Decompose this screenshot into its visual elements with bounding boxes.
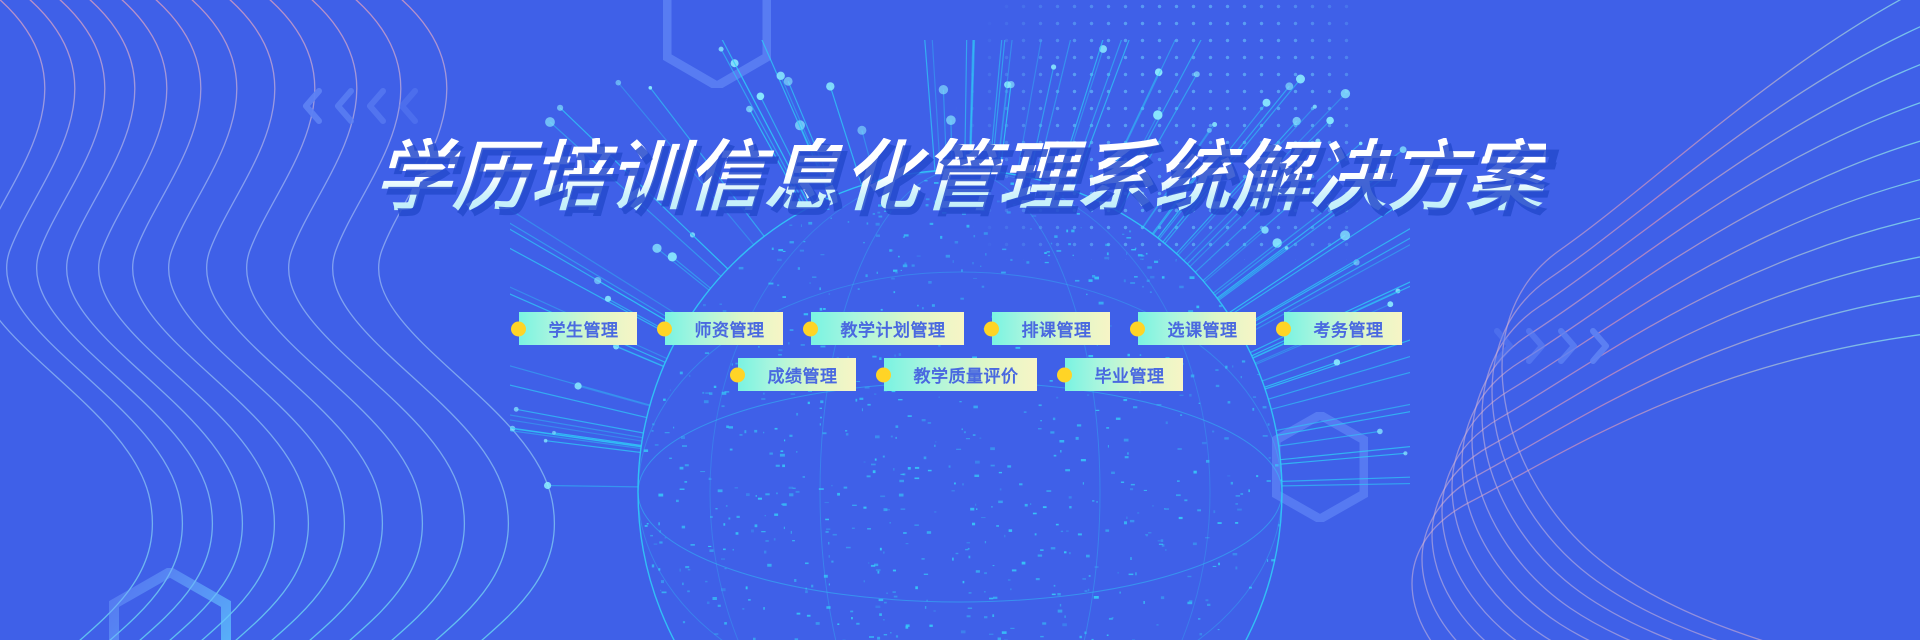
bullet-dot-icon [803, 321, 818, 336]
tag-label: 毕业管理 [1095, 362, 1165, 387]
chevron-group-left [300, 86, 422, 126]
bullet-dot-icon [984, 321, 999, 336]
tag-label: 成绩管理 [768, 362, 838, 387]
hero-banner: 学历培训信息化管理系统解决方案 学生管理 师资管理 教学计划管理 排课管理 选课… [0, 0, 1920, 640]
tag-label: 选课管理 [1168, 316, 1238, 341]
tag-list: 学生管理 师资管理 教学计划管理 排课管理 选课管理 考务管理 成绩管理 教学质… [0, 312, 1920, 391]
chevron-left-icon [300, 86, 326, 126]
bullet-dot-icon [1130, 321, 1145, 336]
tag-item[interactable]: 教学质量评价 [884, 358, 1037, 391]
bullet-dot-icon [730, 367, 745, 382]
tag-label: 排课管理 [1022, 316, 1092, 341]
tag-item[interactable]: 学生管理 [519, 312, 637, 345]
tag-item[interactable]: 考务管理 [1284, 312, 1402, 345]
bullet-dot-icon [1057, 367, 1072, 382]
tag-item[interactable]: 选课管理 [1138, 312, 1256, 345]
dot-grid-pattern [930, 0, 1350, 260]
chevron-left-icon [396, 86, 422, 126]
tag-item[interactable]: 师资管理 [665, 312, 783, 345]
bullet-dot-icon [876, 367, 891, 382]
bullet-dot-icon [511, 321, 526, 336]
tag-item[interactable]: 毕业管理 [1065, 358, 1183, 391]
bullet-dot-icon [657, 321, 672, 336]
title-container: 学历培训信息化管理系统解决方案 [0, 138, 1920, 218]
banner-title: 学历培训信息化管理系统解决方案 [374, 138, 1547, 218]
chevron-left-icon [364, 86, 390, 126]
tag-label: 教学计划管理 [841, 316, 946, 341]
tag-label: 教学质量评价 [914, 362, 1019, 387]
tag-label: 师资管理 [695, 316, 765, 341]
bullet-dot-icon [1276, 321, 1291, 336]
hexagon-bottom-left-icon [108, 568, 232, 640]
tag-item[interactable]: 排课管理 [992, 312, 1110, 345]
tag-label: 考务管理 [1314, 316, 1384, 341]
hexagon-top-center-icon [663, 0, 771, 88]
tag-label: 学生管理 [549, 316, 619, 341]
tag-row-1: 学生管理 师资管理 教学计划管理 排课管理 选课管理 考务管理 [0, 312, 1920, 345]
tag-item[interactable]: 教学计划管理 [811, 312, 964, 345]
hexagon-mid-right-icon [1272, 412, 1368, 522]
tag-row-2: 成绩管理 教学质量评价 毕业管理 [0, 358, 1920, 391]
chevron-left-icon [332, 86, 358, 126]
tag-item[interactable]: 成绩管理 [738, 358, 856, 391]
